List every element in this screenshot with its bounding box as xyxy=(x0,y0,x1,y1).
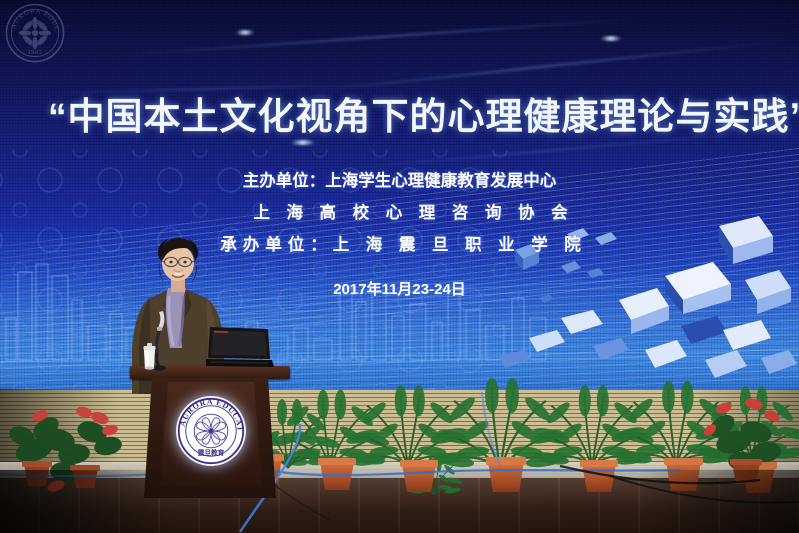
emblem-chinese-text: 震旦教育 xyxy=(198,448,225,457)
organizer-line-1: 主办单位：上海学生心理健康教育发展中心 xyxy=(0,167,799,191)
watermark-arc-text: AURORA EDUCATION xyxy=(4,2,60,32)
floor-shadow-right xyxy=(639,470,799,533)
travel-mug xyxy=(141,342,158,370)
light-glow xyxy=(286,140,320,145)
event-date: 2017年11月23-24日 xyxy=(0,278,799,299)
watermark-year: 1903 xyxy=(28,49,43,56)
organizer-line-2: 上 海 高 校 心 理 咨 询 协 会 xyxy=(0,199,799,223)
screenshot-root: AURORA EDUCATION 1903 “中国本土文化视角下的心理健康理论与… xyxy=(0,0,799,533)
event-title: “中国本土文化视角下的心理健康理论与实践”培训 xyxy=(48,86,799,140)
floor-shadow-left xyxy=(0,470,180,533)
laptop[interactable] xyxy=(206,325,274,369)
light-glow xyxy=(232,30,258,35)
light-glow xyxy=(596,36,626,41)
svg-text:AURORA EDUCATION: AURORA EDUCATION xyxy=(4,2,60,32)
organizer-line-3: 承办单位：上 海 震 旦 职 业 学 院 xyxy=(0,231,799,255)
aurora-education-emblem-icon: AURORA EDUCATION 震旦教育 xyxy=(176,396,246,466)
aurora-education-watermark-icon: AURORA EDUCATION 1903 xyxy=(4,2,66,64)
